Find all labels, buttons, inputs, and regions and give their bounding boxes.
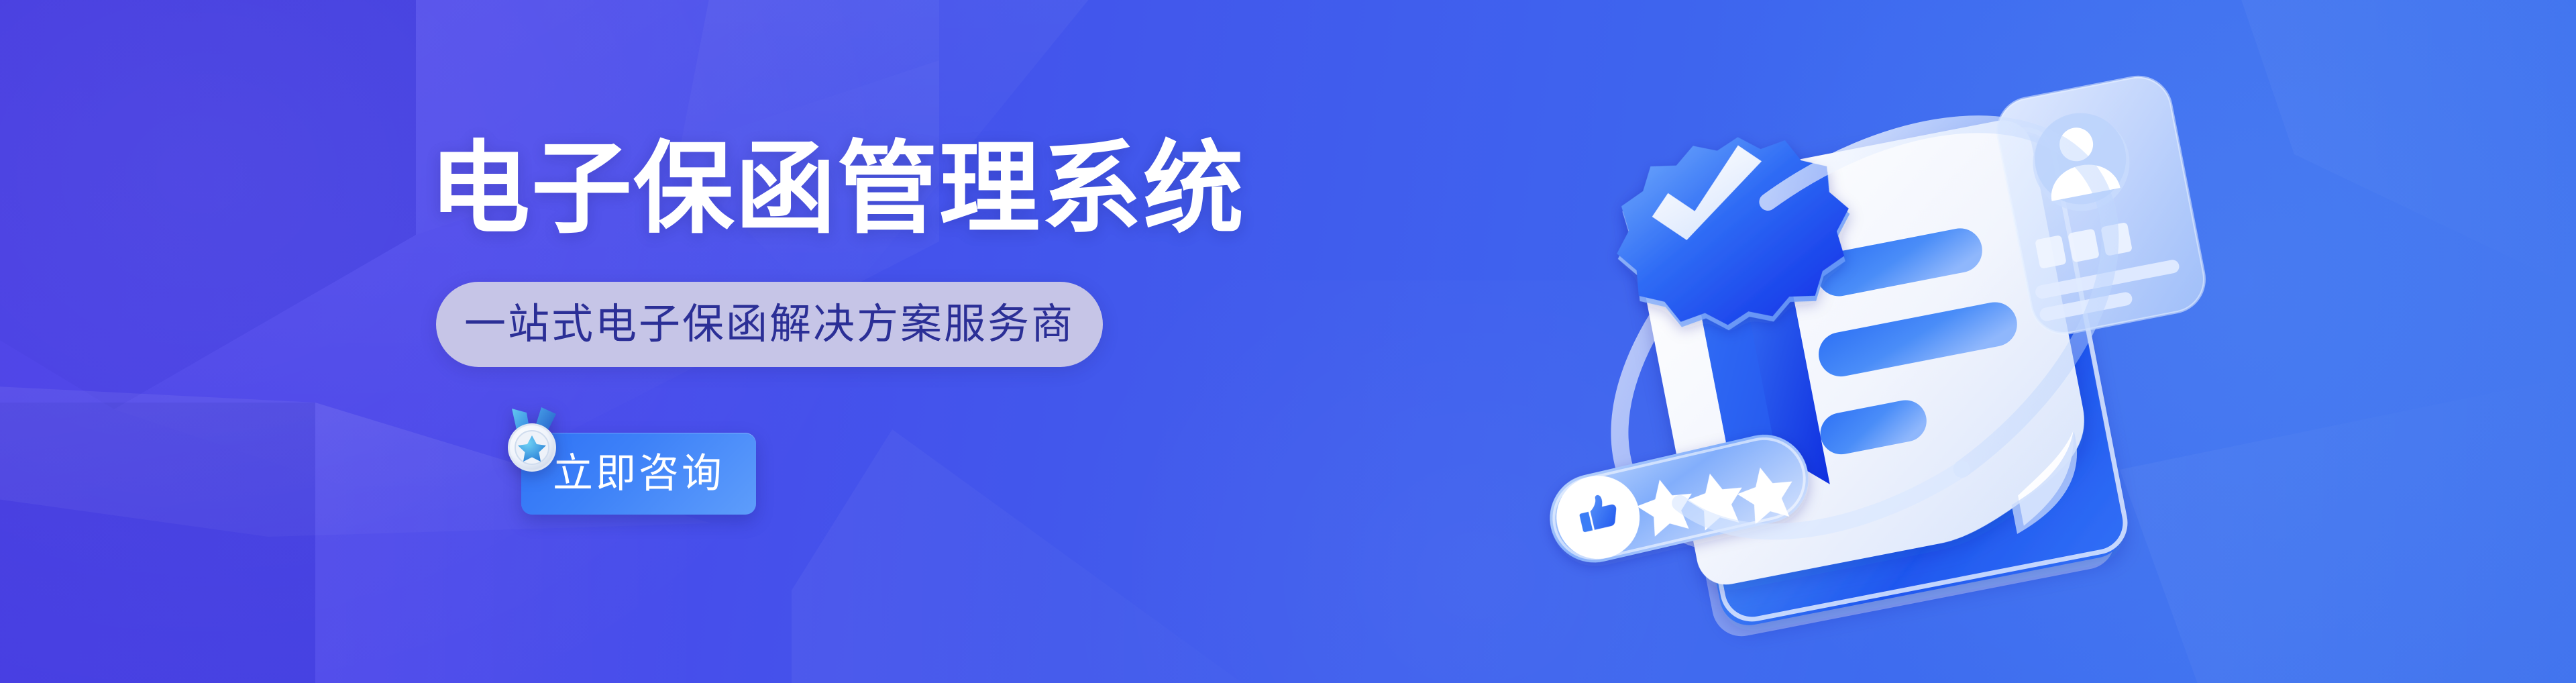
banner-content: 电子保函管理系统 一站式电子保函解决方案服务商 <box>429 0 1368 683</box>
certificate-illustration <box>1509 13 2220 671</box>
subtitle-pill: 一站式电子保函解决方案服务商 <box>436 282 1103 367</box>
medal-star-icon <box>500 406 570 476</box>
promo-banner: 电子保函管理系统 一站式电子保函解决方案服务商 <box>0 0 2576 683</box>
id-box-1 <box>2035 235 2067 269</box>
illustration-svg <box>1509 13 2220 671</box>
consult-now-label: 立即咨询 <box>553 454 724 494</box>
page-title: 电子保函管理系统 <box>429 138 1245 239</box>
cta-row: 立即咨询 <box>500 406 875 540</box>
subtitle-text: 一站式电子保函解决方案服务商 <box>464 304 1075 346</box>
id-box-2 <box>2068 229 2100 263</box>
